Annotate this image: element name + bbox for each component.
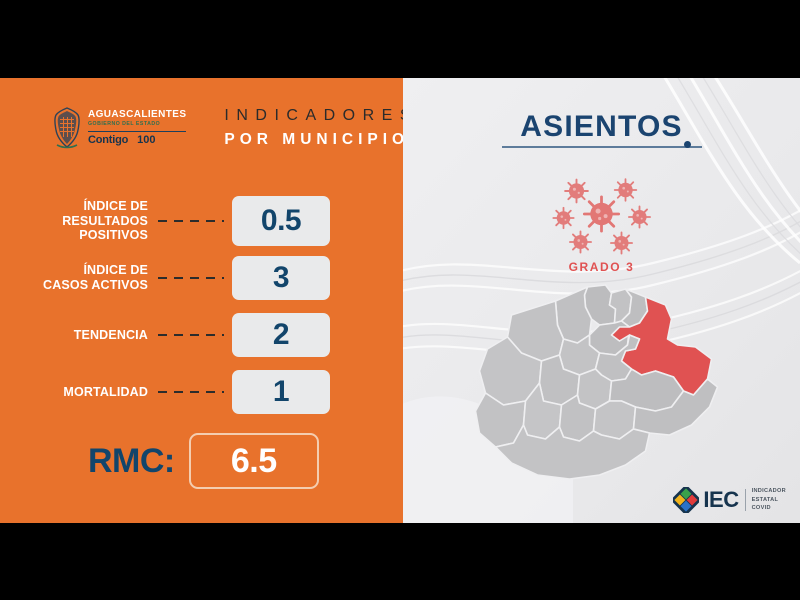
aguascalientes-coat-of-arms-icon <box>52 107 82 149</box>
program-number: 100 <box>137 135 155 146</box>
indicator-label: ÍNDICE DERESULTADOSPOSITIVOS <box>0 199 150 243</box>
indicator-row: TENDENCIA 2 <box>0 310 403 360</box>
indicator-label: MORTALIDAD <box>0 385 150 400</box>
iec-subtitle-line-1: INDICADOR <box>752 487 786 496</box>
indicator-value: 1 <box>232 370 330 414</box>
municipality-title: ASIENTOS <box>403 110 800 144</box>
logo-divider <box>88 131 186 132</box>
title-underline <box>502 146 702 148</box>
title-line-2: POR MUNICIPIO <box>224 131 403 149</box>
iec-logo: IEC INDICADOR ESTATAL COVID <box>673 487 786 513</box>
indicators-panel: AGUASCALIENTES GOBIERNO DEL ESTADO Conti… <box>0 78 403 523</box>
infographic-content: AGUASCALIENTES GOBIERNO DEL ESTADO Conti… <box>0 78 800 523</box>
aguascalientes-state-map <box>459 283 744 483</box>
municipality-name: ASIENTOS <box>520 110 682 144</box>
government-logo-text: AGUASCALIENTES GOBIERNO DEL ESTADO Conti… <box>88 110 186 145</box>
indicator-label: TENDENCIA <box>0 328 150 343</box>
iec-divider <box>745 489 746 511</box>
program-name: Contigo <box>88 135 128 146</box>
coronavirus-cluster-icon <box>549 170 654 255</box>
dashed-connector <box>158 391 224 393</box>
rmc-label: RMC: <box>88 442 175 481</box>
iec-subtitle: INDICADOR ESTATAL COVID <box>752 487 786 513</box>
dashed-connector <box>158 334 224 336</box>
indicator-row: MORTALIDAD 1 <box>0 367 403 417</box>
title-line-1: INDICADORES <box>224 107 403 125</box>
municipality-panel: ASIENTOS <box>403 78 800 523</box>
screenshot-stage: AGUASCALIENTES GOBIERNO DEL ESTADO Conti… <box>0 0 800 600</box>
dashed-connector <box>158 220 224 222</box>
grade-label: GRADO 3 <box>403 260 800 274</box>
indicator-label: ÍNDICE DECASOS ACTIVOS <box>0 263 150 293</box>
indicator-value: 2 <box>232 313 330 357</box>
program-row: Contigo 100 <box>88 135 186 146</box>
indicator-row: ÍNDICE DECASOS ACTIVOS 3 <box>0 253 403 303</box>
state-subtitle: GOBIERNO DEL ESTADO <box>88 122 186 127</box>
rmc-value: 6.5 <box>189 433 319 489</box>
rmc-section: RMC: 6.5 <box>0 433 403 489</box>
indicator-row: ÍNDICE DERESULTADOSPOSITIVOS 0.5 <box>0 196 403 246</box>
indicator-list: ÍNDICE DERESULTADOSPOSITIVOS 0.5 ÍNDICE … <box>0 196 403 424</box>
iec-wordmark: IEC <box>703 487 738 513</box>
iec-subtitle-line-3: COVID <box>752 504 786 513</box>
indicator-value: 0.5 <box>232 196 330 246</box>
state-name: AGUASCALIENTES <box>88 110 186 120</box>
dashed-connector <box>158 277 224 279</box>
brand-header: AGUASCALIENTES GOBIERNO DEL ESTADO Conti… <box>0 104 403 152</box>
page-title: INDICADORES POR MUNICIPIO <box>224 107 403 148</box>
title-dot <box>684 141 691 148</box>
iec-subtitle-line-2: ESTATAL <box>752 496 786 505</box>
government-logo: AGUASCALIENTES GOBIERNO DEL ESTADO Conti… <box>52 107 186 149</box>
iec-diamond-icon <box>673 487 699 513</box>
indicator-value: 3 <box>232 256 330 300</box>
